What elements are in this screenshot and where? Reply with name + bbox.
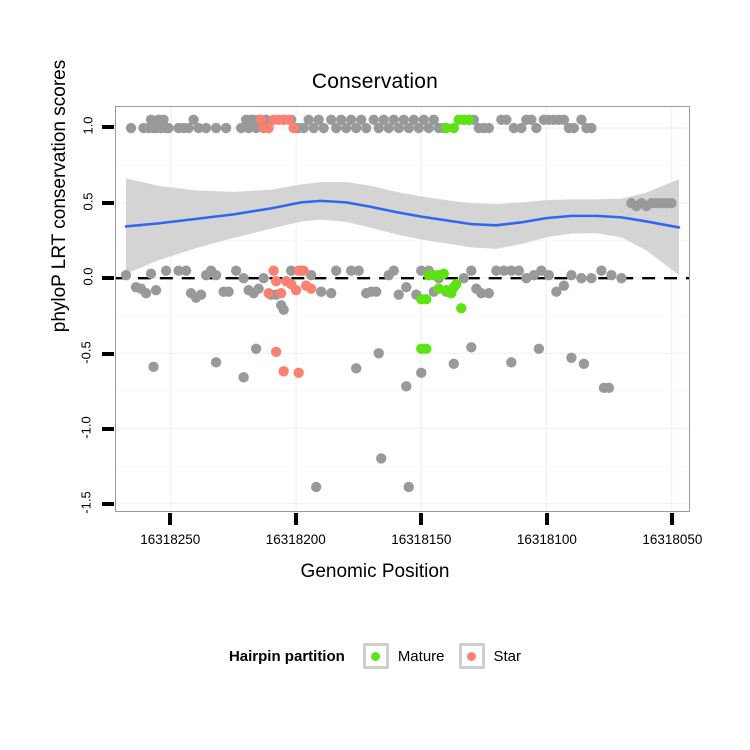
y-tick-mark xyxy=(102,427,114,431)
y-tick-label: 0.5 xyxy=(51,194,97,209)
data-point xyxy=(306,284,316,294)
data-point xyxy=(506,357,516,367)
data-point xyxy=(288,123,298,133)
x-tick-mark xyxy=(670,513,674,525)
legend-entry-star[interactable]: Star xyxy=(459,643,522,669)
data-point xyxy=(278,305,288,315)
y-tick-mark xyxy=(102,276,114,280)
data-point xyxy=(416,368,426,378)
data-point xyxy=(311,482,321,492)
data-point xyxy=(666,198,676,208)
data-point xyxy=(456,303,466,313)
plot-panel xyxy=(115,106,690,512)
data-point xyxy=(421,344,431,354)
data-point xyxy=(579,359,589,369)
data-point xyxy=(569,123,579,133)
data-point xyxy=(161,266,171,276)
data-point xyxy=(566,270,576,280)
legend-color-dot xyxy=(467,652,476,661)
legend-title: Hairpin partition xyxy=(229,648,345,665)
y-tick-label: -1.5 xyxy=(51,495,97,510)
data-point xyxy=(351,363,361,373)
data-point xyxy=(484,123,494,133)
legend-label: Mature xyxy=(398,648,445,665)
data-point xyxy=(223,287,233,297)
y-tick-label: 1.0 xyxy=(51,118,97,133)
page-title: Conservation xyxy=(0,70,750,94)
data-point xyxy=(121,270,131,280)
y-tick-mark xyxy=(102,502,114,506)
data-point xyxy=(271,276,281,286)
data-point xyxy=(421,294,431,304)
data-point xyxy=(616,273,626,283)
data-point xyxy=(586,123,596,133)
x-tick-label: 16318100 xyxy=(492,532,602,547)
data-point xyxy=(221,123,231,133)
data-point xyxy=(434,284,444,294)
data-point xyxy=(326,288,336,298)
data-point xyxy=(253,284,263,294)
y-tick-label: 0.0 xyxy=(51,269,97,284)
data-point xyxy=(278,366,288,376)
data-point xyxy=(258,123,268,133)
data-point xyxy=(238,372,248,382)
data-point xyxy=(401,381,411,391)
data-point xyxy=(534,344,544,354)
y-tick-mark xyxy=(102,125,114,129)
data-point xyxy=(354,266,364,276)
data-point xyxy=(298,266,308,276)
data-point xyxy=(231,266,241,276)
data-point xyxy=(258,273,268,283)
data-point xyxy=(163,123,173,133)
data-point xyxy=(211,270,221,280)
data-point xyxy=(211,357,221,367)
data-point xyxy=(464,115,474,125)
y-tick-mark xyxy=(102,201,114,205)
data-point xyxy=(196,290,206,300)
legend-key-box xyxy=(363,643,389,669)
y-tick-label: -0.5 xyxy=(51,345,97,360)
data-point xyxy=(268,266,278,276)
x-tick-mark xyxy=(294,513,298,525)
series-star xyxy=(256,115,316,378)
x-tick-mark xyxy=(168,513,172,525)
data-point xyxy=(316,287,326,297)
legend-key-box xyxy=(459,643,485,669)
data-point xyxy=(544,270,554,280)
data-point xyxy=(276,288,286,298)
y-tick-label: -1.0 xyxy=(51,420,97,435)
data-point xyxy=(361,123,371,133)
data-point xyxy=(201,123,211,133)
data-point xyxy=(439,269,449,279)
data-point xyxy=(606,270,616,280)
x-tick-mark xyxy=(419,513,423,525)
data-point xyxy=(374,348,384,358)
data-point xyxy=(238,273,248,283)
series-other xyxy=(121,115,677,493)
x-axis-label: Genomic Position xyxy=(0,561,750,583)
data-point xyxy=(466,266,476,276)
data-point xyxy=(484,288,494,298)
y-tick-mark xyxy=(102,352,114,356)
data-point xyxy=(318,123,328,133)
legend: Hairpin partition MatureStar xyxy=(0,643,750,669)
data-point xyxy=(576,273,586,283)
data-point xyxy=(331,266,341,276)
chart-root: Conservation phyloP LRT conservation sco… xyxy=(0,0,750,750)
data-point xyxy=(466,342,476,352)
data-point xyxy=(371,287,381,297)
data-point xyxy=(451,279,461,289)
legend-label: Star xyxy=(494,648,522,665)
data-point xyxy=(501,115,511,125)
data-point xyxy=(394,290,404,300)
x-tick-label: 16318200 xyxy=(241,532,351,547)
data-point xyxy=(404,482,414,492)
data-point xyxy=(389,266,399,276)
data-point xyxy=(181,266,191,276)
legend-entries: MatureStar xyxy=(363,643,521,669)
confidence-band xyxy=(126,178,679,275)
data-point xyxy=(263,288,273,298)
data-point xyxy=(271,347,281,357)
data-point xyxy=(604,383,614,393)
x-tick-label: 16318250 xyxy=(115,532,225,547)
legend-entry-mature[interactable]: Mature xyxy=(363,643,445,669)
plot-canvas xyxy=(116,107,689,511)
x-tick-label: 16318150 xyxy=(366,532,476,547)
data-point xyxy=(586,273,596,283)
data-point xyxy=(566,353,576,363)
x-tick-label: 16318050 xyxy=(617,532,727,547)
data-point xyxy=(449,359,459,369)
data-point xyxy=(148,362,158,372)
data-point xyxy=(291,285,301,295)
data-point xyxy=(211,123,221,133)
data-point xyxy=(559,281,569,291)
data-point xyxy=(401,282,411,292)
data-point xyxy=(251,344,261,354)
data-point xyxy=(376,453,386,463)
data-point xyxy=(531,123,541,133)
data-point xyxy=(596,266,606,276)
data-point xyxy=(141,288,151,298)
x-tick-mark xyxy=(545,513,549,525)
data-point xyxy=(293,368,303,378)
data-point xyxy=(126,123,136,133)
data-point xyxy=(151,285,161,295)
data-point xyxy=(146,269,156,279)
legend-color-dot xyxy=(371,652,380,661)
data-point xyxy=(514,266,524,276)
